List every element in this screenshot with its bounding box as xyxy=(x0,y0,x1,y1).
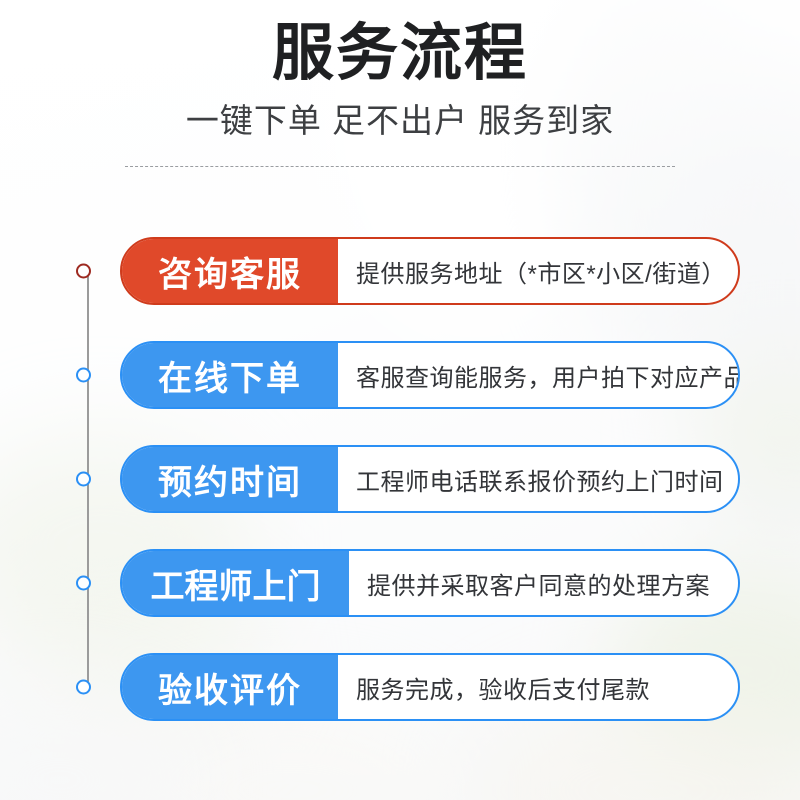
step-label: 咨询客服 xyxy=(122,239,338,303)
step-pill[interactable]: 在线下单 客服查询能服务，用户拍下对应产品 xyxy=(120,341,740,409)
step-description: 客服查询能服务，用户拍下对应产品 xyxy=(338,343,740,407)
timeline-marker-icon xyxy=(76,680,91,695)
step-label: 验收评价 xyxy=(122,655,338,719)
page-title: 服务流程 xyxy=(0,0,800,89)
header-divider xyxy=(125,166,675,167)
step-description: 服务完成，验收后支付尾款 xyxy=(338,655,738,719)
page-subtitle: 一键下单 足不出户 服务到家 xyxy=(0,89,800,141)
timeline-marker-icon xyxy=(76,368,91,383)
step-label: 工程师上门 xyxy=(122,551,349,615)
step-pill[interactable]: 预约时间 工程师电话联系报价预约上门时间 xyxy=(120,445,740,513)
process-step-4[interactable]: 工程师上门 提供并采取客户同意的处理方案 xyxy=(0,549,800,617)
timeline-marker-icon xyxy=(76,264,91,279)
step-description: 提供并采取客户同意的处理方案 xyxy=(349,551,738,615)
step-pill[interactable]: 咨询客服 提供服务地址（*市区*小区/街道） xyxy=(120,237,740,305)
step-label: 预约时间 xyxy=(122,447,338,511)
step-description: 工程师电话联系报价预约上门时间 xyxy=(338,447,740,511)
process-step-2[interactable]: 在线下单 客服查询能服务，用户拍下对应产品 xyxy=(0,341,800,409)
process-step-1[interactable]: 咨询客服 提供服务地址（*市区*小区/街道） xyxy=(0,237,800,305)
step-pill[interactable]: 验收评价 服务完成，验收后支付尾款 xyxy=(120,653,740,721)
step-label: 在线下单 xyxy=(122,343,338,407)
service-process-poster: 服务流程 一键下单 足不出户 服务到家 咨询客服 提供服务地址（*市区*小区/街… xyxy=(0,0,800,800)
process-step-list: 咨询客服 提供服务地址（*市区*小区/街道） 在线下单 客服查询能服务，用户拍下… xyxy=(0,237,800,721)
process-step-3[interactable]: 预约时间 工程师电话联系报价预约上门时间 xyxy=(0,445,800,513)
process-step-5[interactable]: 验收评价 服务完成，验收后支付尾款 xyxy=(0,653,800,721)
timeline-marker-icon xyxy=(76,472,91,487)
timeline-marker-icon xyxy=(76,576,91,591)
poster-header: 服务流程 一键下单 足不出户 服务到家 xyxy=(0,0,800,141)
step-description: 提供服务地址（*市区*小区/街道） xyxy=(338,239,740,303)
step-pill[interactable]: 工程师上门 提供并采取客户同意的处理方案 xyxy=(120,549,740,617)
